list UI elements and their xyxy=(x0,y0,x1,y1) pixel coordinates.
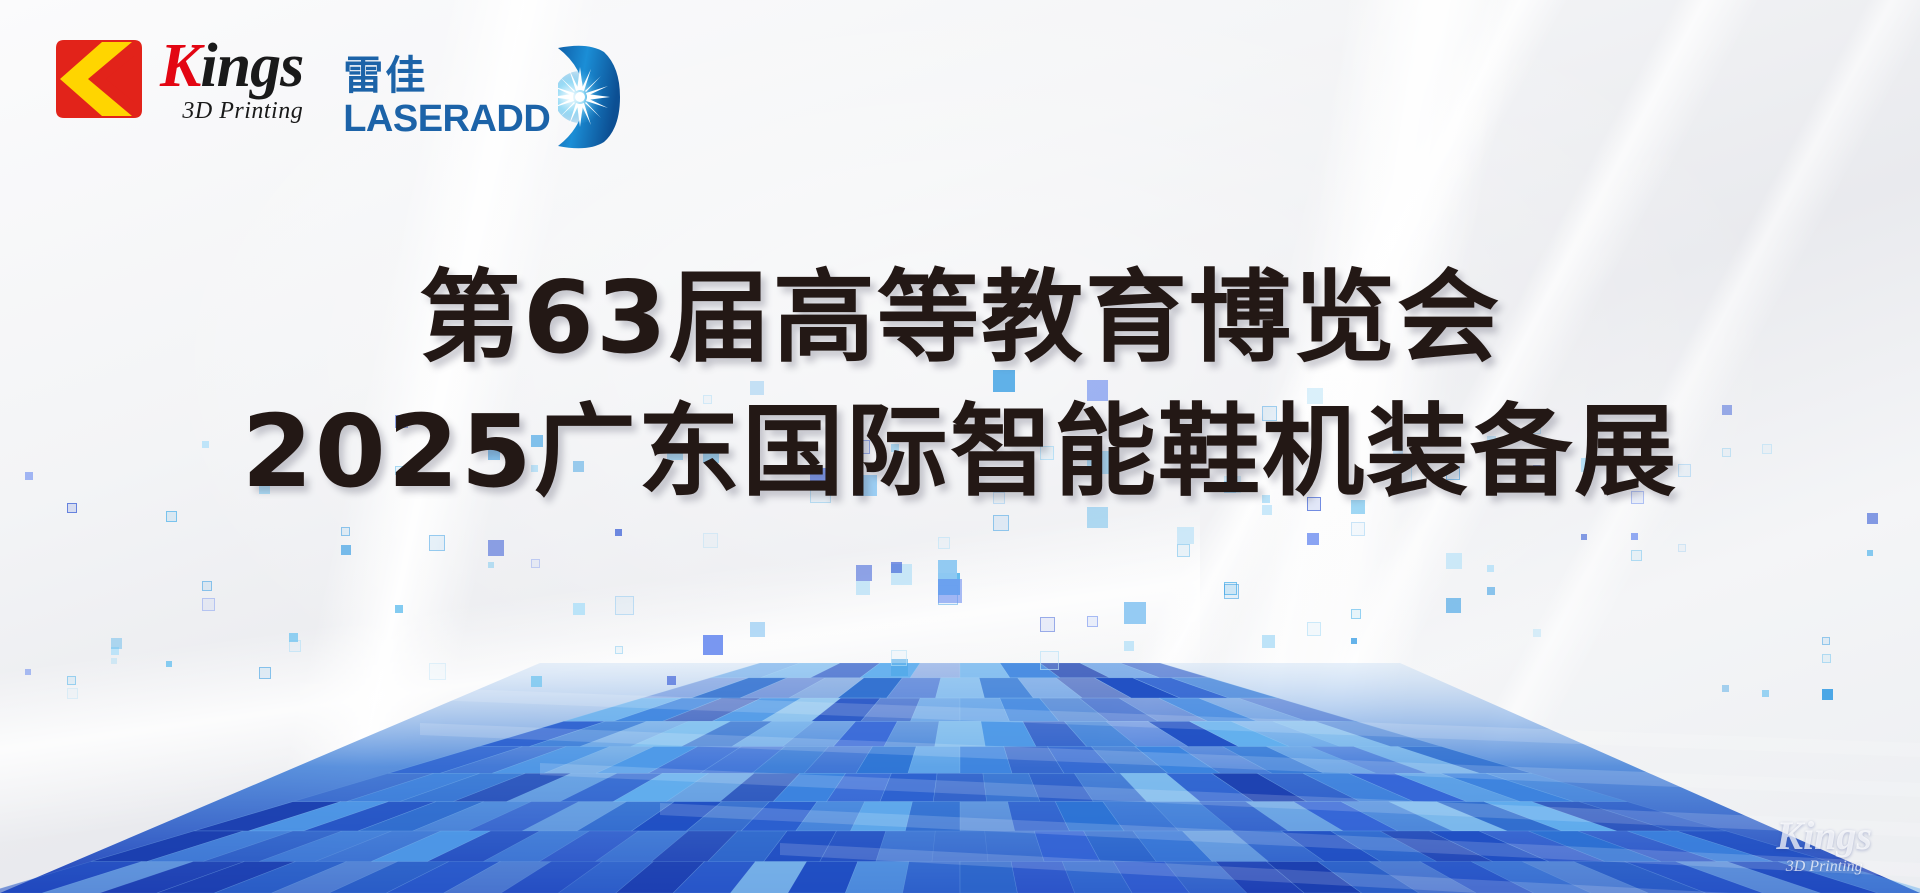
laseradd-english-name: LASERADD xyxy=(343,100,550,138)
floor-tile xyxy=(903,862,960,893)
event-banner: Kings 3D Printing 雷佳 LASERADD xyxy=(0,0,1920,893)
laseradd-burst-emblem-icon xyxy=(558,42,620,152)
title-line-2: 2025广东国际智能鞋机装备展 xyxy=(0,396,1920,508)
title-block: 第63届高等教育博览会 2025广东国际智能鞋机装备展 xyxy=(0,262,1920,508)
title-line-1: 第63届高等教育博览会 xyxy=(0,262,1920,374)
floor-tile xyxy=(935,721,986,746)
laseradd-chinese-name: 雷佳 xyxy=(343,56,427,96)
kings-logo[interactable]: Kings 3D Printing xyxy=(48,34,303,124)
kings-chevron-mark-icon xyxy=(48,34,148,124)
kings-watermark: Kings 3D Printing xyxy=(1776,816,1872,875)
kings-tagline: 3D Printing xyxy=(182,99,303,123)
logo-bar: Kings 3D Printing 雷佳 LASERADD xyxy=(48,34,620,152)
kings-name: Kings xyxy=(160,35,303,97)
watermark-name: Kings xyxy=(1776,816,1872,856)
kings-wordmark: Kings 3D Printing xyxy=(160,35,303,123)
kings-initial: K xyxy=(160,32,200,100)
watermark-tagline: 3D Printing xyxy=(1776,859,1872,875)
laseradd-wordmark: 雷佳 LASERADD xyxy=(343,56,550,138)
laseradd-logo[interactable]: 雷佳 LASERADD xyxy=(343,42,620,152)
perspective-pixel-floor xyxy=(0,663,1920,893)
floor-tile xyxy=(936,678,985,698)
kings-name-rest: ings xyxy=(200,32,303,100)
